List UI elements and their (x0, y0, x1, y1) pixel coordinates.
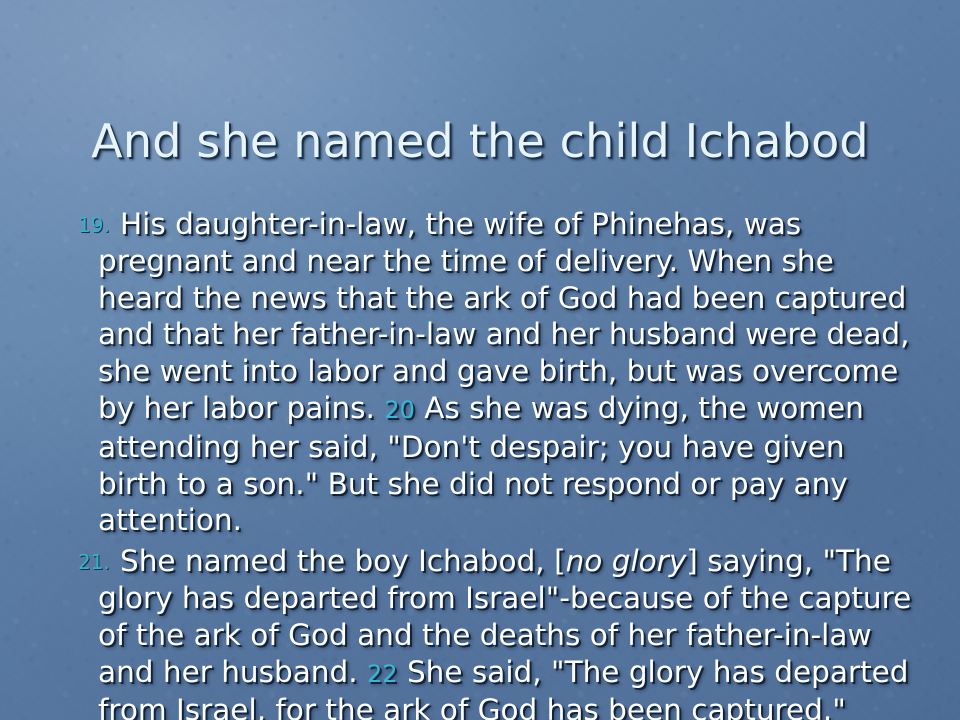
gloss-text: no glory (566, 544, 687, 578)
verse-marker-19: 19. (78, 215, 110, 235)
presentation-slide: And she named the child Ichabod 19.His d… (0, 0, 960, 720)
slide-title: And she named the child Ichabod (0, 113, 960, 169)
verse-paragraph-19: 19.His daughter-in-law, the wife of Phin… (58, 206, 914, 539)
gloss-open-bracket: [ (554, 544, 566, 578)
verse-number-22: 22 (367, 660, 398, 688)
verse-paragraph-21: 21.She named the boy Ichabod, [no glory]… (58, 543, 914, 720)
slide-body: 19.His daughter-in-law, the wife of Phin… (58, 206, 914, 720)
verse-marker-21: 21. (78, 552, 110, 572)
gloss-close-bracket: ] (686, 544, 698, 578)
gloss-annotation: [no glory] (554, 544, 698, 578)
verse-number-20: 20 (384, 396, 415, 424)
verse-21-text: She named the boy Ichabod, (120, 544, 545, 578)
